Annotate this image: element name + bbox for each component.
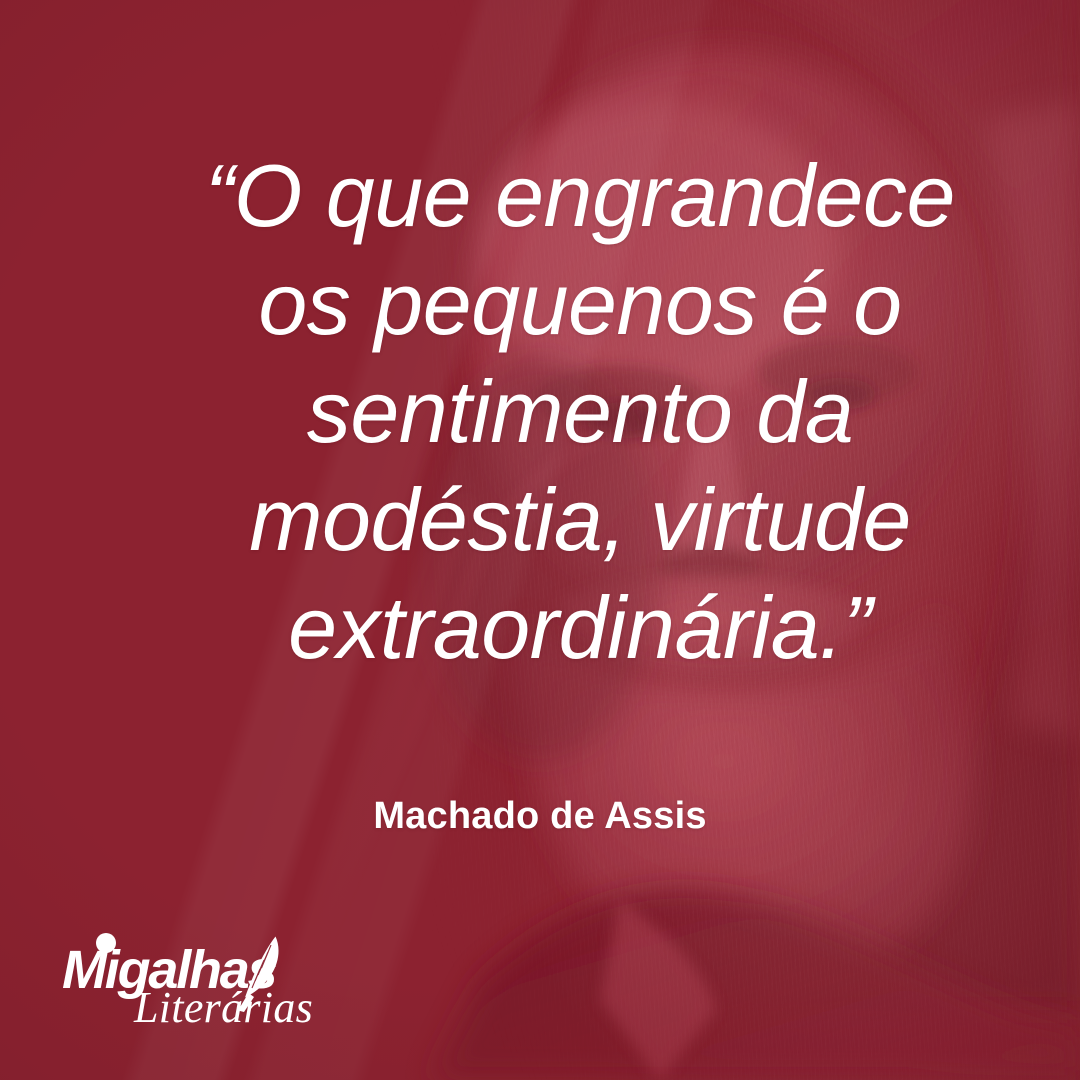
logo-subtitle: Literárias [133, 983, 312, 1026]
card-content: “O que engrandece os pequenos é o sentim… [0, 0, 1080, 1080]
quote-text: “O que engrandece os pequenos é o sentim… [100, 142, 1060, 682]
quote-card: “O que engrandece os pequenos é o sentim… [0, 0, 1080, 1080]
quote-line-3: sentimento da [100, 358, 1060, 466]
quote-line-1: “O que engrandece [100, 142, 1060, 250]
logo-artwork: Migalhas Literárias [62, 930, 312, 1026]
migalhas-literarias-logo[interactable]: Migalhas Literárias [62, 930, 312, 1026]
quote-line-2: os pequenos é o [100, 250, 1060, 358]
quote-line-4: modéstia, virtude [100, 466, 1060, 574]
quote-line-5: extraordinária.” [100, 574, 1060, 682]
quote-author: Machado de Assis [60, 795, 1020, 838]
